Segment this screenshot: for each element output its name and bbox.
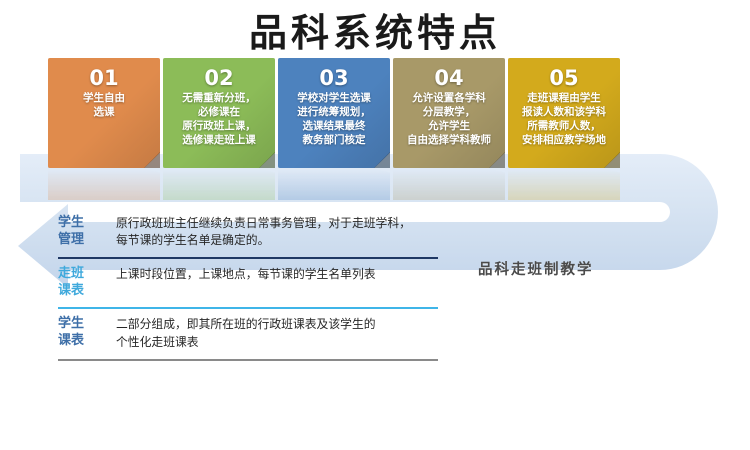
step-box-05[interactable]: 05 走班课程由学生报读人数和该学科所需教师人数，安排相应教学场地 <box>508 58 620 168</box>
step-box-03-text: 学校对学生选课进行统筹规划，选课结果最终教务部门核定 <box>281 92 387 147</box>
step-box-01-number: 01 <box>48 66 160 90</box>
page-title: 品科系统特点 <box>0 2 750 57</box>
slide-canvas: 品科系统特点 品科走班制教学 01 学生自由选课 02 无需重新分班，必修课在原… <box>0 0 750 450</box>
table-row-student-management: 学生管理 原行政班班主任继续负责日常事务管理，对于走班学科，每节课的学生名单是确… <box>58 208 438 257</box>
step-box-01[interactable]: 01 学生自由选课 <box>48 58 160 168</box>
step-box-01-text: 学生自由选课 <box>51 92 157 120</box>
table-row-rotation-schedule: 走班课表 上课时段位置，上课地点，每节课的学生名单列表 <box>58 259 438 307</box>
row-label-student-management: 学生管理 <box>58 215 116 248</box>
step-box-03[interactable]: 03 学校对学生选课进行统筹规划，选课结果最终教务部门核定 <box>278 58 390 168</box>
process-steps: 01 学生自由选课 02 无需重新分班，必修课在原行政班上课，选修课走班上课 0… <box>0 58 750 193</box>
step-box-04-number: 04 <box>393 66 505 90</box>
row-body-rotation-schedule: 上课时段位置，上课地点，每节课的学生名单列表 <box>116 266 438 283</box>
step-box-02-number: 02 <box>163 66 275 90</box>
row-label-student-schedule: 学生课表 <box>58 316 116 349</box>
step-box-05-reflection <box>508 168 620 200</box>
row-body-student-management: 原行政班班主任继续负责日常事务管理，对于走班学科，每节课的学生名单是确定的。 <box>116 215 438 249</box>
step-box-04-reflection <box>393 168 505 200</box>
row-label-rotation-schedule: 走班课表 <box>58 266 116 299</box>
step-box-03-number: 03 <box>278 66 390 90</box>
step-box-05-number: 05 <box>508 66 620 90</box>
step-box-02-reflection <box>163 168 275 200</box>
step-box-01-reflection <box>48 168 160 200</box>
detail-table: 学生管理 原行政班班主任继续负责日常事务管理，对于走班学科，每节课的学生名单是确… <box>58 208 438 361</box>
step-box-03-reflection <box>278 168 390 200</box>
table-row-student-schedule: 学生课表 二部分组成，即其所在班的行政班课表及该学生的个性化走班课表 <box>58 309 438 358</box>
row-body-student-schedule: 二部分组成，即其所在班的行政班课表及该学生的个性化走班课表 <box>116 316 438 350</box>
step-box-05-text: 走班课程由学生报读人数和该学科所需教师人数，安排相应教学场地 <box>511 92 617 147</box>
step-box-04[interactable]: 04 允许设置各学科分层教学，允许学生自由选择学科教师 <box>393 58 505 168</box>
step-box-02-text: 无需重新分班，必修课在原行政班上课，选修课走班上课 <box>166 92 272 147</box>
step-box-02[interactable]: 02 无需重新分班，必修课在原行政班上课，选修课走班上课 <box>163 58 275 168</box>
step-box-04-text: 允许设置各学科分层教学，允许学生自由选择学科教师 <box>396 92 502 147</box>
divider-3 <box>58 359 438 361</box>
flow-arrow-label: 品科走班制教学 <box>478 258 594 279</box>
